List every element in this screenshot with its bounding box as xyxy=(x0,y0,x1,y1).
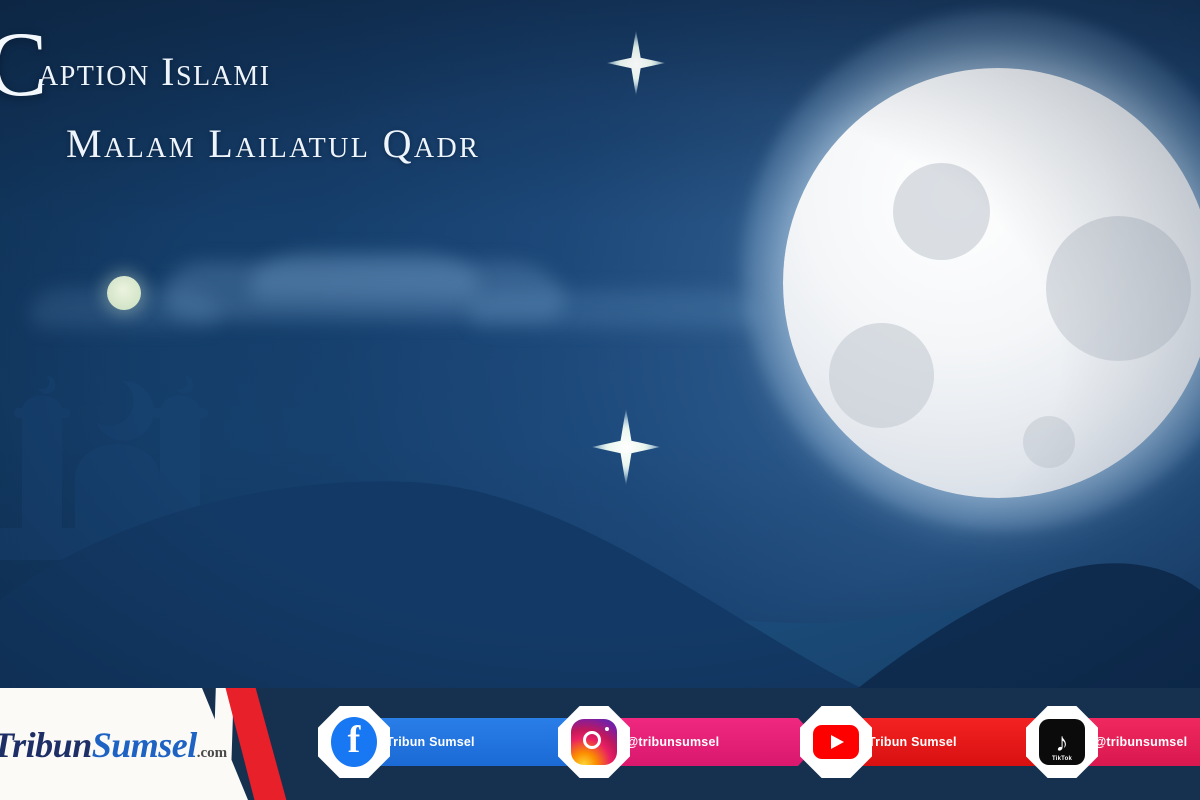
youtube-icon xyxy=(813,725,859,759)
social-badge-facebook[interactable]: Tribun Sumsel f xyxy=(318,706,538,778)
footer-bar: TribunSumsel.com Tribun Sumsel f @tribun… xyxy=(0,688,1200,800)
tribun-sumsel-logo[interactable]: TribunSumsel.com xyxy=(0,724,227,766)
youtube-handle-text: Tribun Sumsel xyxy=(868,735,957,749)
logo-part-tribun: Tribun xyxy=(0,725,92,765)
instagram-icon xyxy=(571,719,617,765)
poster-canvas: C aption Islami Malam Lailatul Qadr Trib… xyxy=(0,0,1200,800)
tiktok-label: TikTok xyxy=(1039,756,1085,762)
social-badge-youtube[interactable]: Tribun Sumsel xyxy=(800,706,1020,778)
social-badge-tiktok[interactable]: @tribunsumsel ♪ TikTok xyxy=(1026,706,1200,778)
tiktok-handle-text: @tribunsumsel xyxy=(1094,735,1187,749)
facebook-icon-frame[interactable]: f xyxy=(318,706,390,778)
instagram-handle-text: @tribunsumsel xyxy=(626,735,719,749)
facebook-glyph: f xyxy=(348,721,361,759)
tiktok-glyph: ♪ xyxy=(1056,729,1069,755)
logo-part-sumsel: Sumsel xyxy=(92,725,197,765)
facebook-icon: f xyxy=(331,717,377,767)
vignette-overlay xyxy=(0,0,1200,800)
facebook-handle-text: Tribun Sumsel xyxy=(386,735,475,749)
social-badge-instagram[interactable]: @tribunsumsel xyxy=(558,706,773,778)
tiktok-icon-frame[interactable]: ♪ TikTok xyxy=(1026,706,1098,778)
tiktok-icon: ♪ TikTok xyxy=(1039,719,1085,765)
logo-part-dotcom: .com xyxy=(197,745,227,761)
instagram-icon-frame[interactable] xyxy=(558,706,630,778)
youtube-icon-frame[interactable] xyxy=(800,706,872,778)
